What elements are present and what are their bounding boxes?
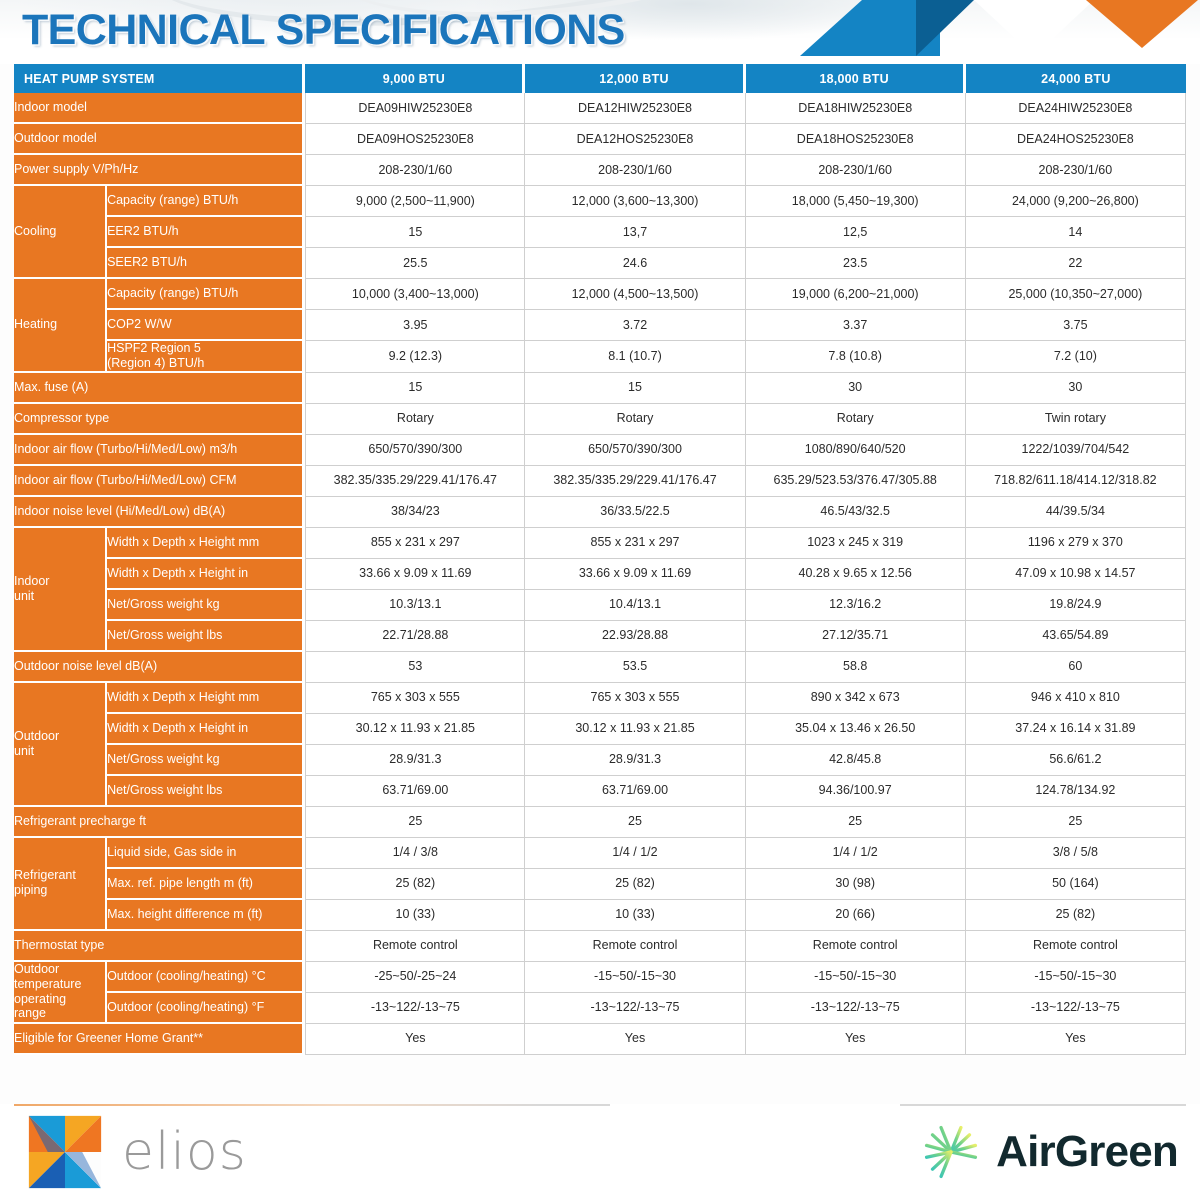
table-cell: 1/4 / 3/8	[305, 838, 525, 869]
row-label: Outdoor noise level dB(A)	[14, 652, 305, 683]
table-cell: 765 x 303 x 555	[525, 683, 745, 714]
table-cell: 855 x 231 x 297	[525, 528, 745, 559]
row-label: Width x Depth x Height in	[107, 559, 305, 590]
table-cell: DEA12HOS25230E8	[525, 124, 745, 155]
table-row: Width x Depth x Height in33.66 x 9.09 x …	[14, 559, 1186, 590]
white-wedge-icon	[974, 0, 1094, 56]
row-label: SEER2 BTU/h	[107, 248, 305, 279]
table-cell: 63.71/69.00	[525, 776, 745, 807]
table-cell: 19,000 (6,200~21,000)	[746, 279, 966, 310]
table-row: Refrigerant precharge ft25252525	[14, 807, 1186, 838]
table-cell: 25	[525, 807, 745, 838]
airgreen-sunburst-icon	[918, 1119, 984, 1185]
table-cell: Remote control	[746, 931, 966, 962]
table-cell: 30	[966, 373, 1186, 404]
header-cell-24000: 24,000 BTU	[966, 64, 1186, 93]
row-label: Net/Gross weight kg	[107, 745, 305, 776]
table-cell: 22	[966, 248, 1186, 279]
table-cell: 15	[525, 373, 745, 404]
table-cell: 25.5	[305, 248, 525, 279]
table-row: HSPF2 Region 5(Region 4) BTU/h9.2 (12.3)…	[14, 341, 1186, 373]
table-cell: 30	[746, 373, 966, 404]
table-cell: 9.2 (12.3)	[305, 341, 525, 373]
row-label: Refrigerant precharge ft	[14, 807, 305, 838]
table-cell: 36/33.5/22.5	[525, 497, 745, 528]
table-cell: 208-230/1/60	[746, 155, 966, 186]
table-cell: 635.29/523.53/376.47/305.88	[746, 466, 966, 497]
row-group-label: Heating	[14, 279, 107, 373]
table-cell: 19.8/24.9	[966, 590, 1186, 621]
table-cell: 25,000 (10,350~27,000)	[966, 279, 1186, 310]
table-cell: 3.75	[966, 310, 1186, 341]
table-cell: 1/4 / 1/2	[525, 838, 745, 869]
table-cell: 10.4/13.1	[525, 590, 745, 621]
table-cell: 42.8/45.8	[746, 745, 966, 776]
table-cell: 30.12 x 11.93 x 21.85	[525, 714, 745, 745]
row-label: Max. height difference m (ft)	[107, 900, 305, 931]
table-row: Thermostat typeRemote controlRemote cont…	[14, 931, 1186, 962]
table-cell: 27.12/35.71	[746, 621, 966, 652]
table-row: OutdoortemperatureoperatingrangeOutdoor …	[14, 962, 1186, 993]
table-cell: 1/4 / 1/2	[746, 838, 966, 869]
table-cell: 14	[966, 217, 1186, 248]
table-row: CoolingCapacity (range) BTU/h9,000 (2,50…	[14, 186, 1186, 217]
table-cell: Yes	[966, 1024, 1186, 1055]
row-label: Indoor air flow (Turbo/Hi/Med/Low) m3/h	[14, 435, 305, 466]
table-row: Net/Gross weight kg10.3/13.110.4/13.112.…	[14, 590, 1186, 621]
table-cell: 53.5	[525, 652, 745, 683]
table-row: Indoor air flow (Turbo/Hi/Med/Low) m3/h6…	[14, 435, 1186, 466]
table-cell: 22.93/28.88	[525, 621, 745, 652]
table-cell: 25 (82)	[966, 900, 1186, 931]
row-label: COP2 W/W	[107, 310, 305, 341]
row-label: Max. ref. pipe length m (ft)	[107, 869, 305, 900]
table-cell: 12,5	[746, 217, 966, 248]
row-label: Liquid side, Gas side in	[107, 838, 305, 869]
table-cell: Twin rotary	[966, 404, 1186, 435]
table-cell: -13~122/-13~75	[525, 993, 745, 1024]
table-header-row: HEAT PUMP SYSTEM 9,000 BTU 12,000 BTU 18…	[14, 64, 1186, 93]
table-cell: 3.37	[746, 310, 966, 341]
header-cell-9000: 9,000 BTU	[305, 64, 525, 93]
header-cell-18000: 18,000 BTU	[746, 64, 966, 93]
table-cell: 10 (33)	[525, 900, 745, 931]
table-cell: -15~50/-15~30	[525, 962, 745, 993]
table-cell: 855 x 231 x 297	[305, 528, 525, 559]
table-cell: 33.66 x 9.09 x 11.69	[525, 559, 745, 590]
table-cell: Yes	[305, 1024, 525, 1055]
page-header: TECHNICAL SPECIFICATIONS	[0, 0, 1200, 64]
table-row: Width x Depth x Height in30.12 x 11.93 x…	[14, 714, 1186, 745]
table-row: Compressor typeRotaryRotaryRotaryTwin ro…	[14, 404, 1186, 435]
table-cell: -15~50/-15~30	[746, 962, 966, 993]
table-cell: 60	[966, 652, 1186, 683]
row-label: Net/Gross weight lbs	[107, 776, 305, 807]
table-row: Indoor modelDEA09HIW25230E8DEA12HIW25230…	[14, 93, 1186, 124]
table-cell: Rotary	[305, 404, 525, 435]
table-cell: 9,000 (2,500~11,900)	[305, 186, 525, 217]
table-row: Indoor air flow (Turbo/Hi/Med/Low) CFM38…	[14, 466, 1186, 497]
elios-logo: elios	[22, 1109, 247, 1195]
elios-pinwheel-icon	[22, 1109, 108, 1195]
footer-divider	[14, 1104, 1186, 1106]
row-label: Thermostat type	[14, 931, 305, 962]
row-label: Width x Depth x Height in	[107, 714, 305, 745]
table-row: Net/Gross weight kg28.9/31.328.9/31.342.…	[14, 745, 1186, 776]
row-label: Capacity (range) BTU/h	[107, 279, 305, 310]
table-row: Net/Gross weight lbs63.71/69.0063.71/69.…	[14, 776, 1186, 807]
table-cell: 650/570/390/300	[305, 435, 525, 466]
row-group-label: Refrigerantpiping	[14, 838, 107, 931]
table-row: RefrigerantpipingLiquid side, Gas side i…	[14, 838, 1186, 869]
table-cell: 12,000 (3,600~13,300)	[525, 186, 745, 217]
header-cell-12000: 12,000 BTU	[525, 64, 745, 93]
table-cell: 23.5	[746, 248, 966, 279]
header-cell-system: HEAT PUMP SYSTEM	[14, 64, 305, 93]
table-cell: 94.36/100.97	[746, 776, 966, 807]
table-cell: 56.6/61.2	[966, 745, 1186, 776]
table-cell: DEA18HIW25230E8	[746, 93, 966, 124]
table-row: Outdoor modelDEA09HOS25230E8DEA12HOS2523…	[14, 124, 1186, 155]
table-cell: 24.6	[525, 248, 745, 279]
table-cell: 38/34/23	[305, 497, 525, 528]
table-cell: -13~122/-13~75	[305, 993, 525, 1024]
page-title: TECHNICAL SPECIFICATIONS	[22, 6, 625, 55]
table-cell: 37.24 x 16.14 x 31.89	[966, 714, 1186, 745]
table-cell: 1080/890/640/520	[746, 435, 966, 466]
spec-table-container: HEAT PUMP SYSTEM 9,000 BTU 12,000 BTU 18…	[0, 64, 1200, 1055]
table-cell: 12,000 (4,500~13,500)	[525, 279, 745, 310]
table-cell: 24,000 (9,200~26,800)	[966, 186, 1186, 217]
row-label: Net/Gross weight lbs	[107, 621, 305, 652]
table-cell: 15	[305, 217, 525, 248]
table-cell: 53	[305, 652, 525, 683]
row-label: Net/Gross weight kg	[107, 590, 305, 621]
table-cell: Yes	[525, 1024, 745, 1055]
table-cell: 30.12 x 11.93 x 21.85	[305, 714, 525, 745]
dark-blue-triangle-icon	[916, 0, 974, 56]
table-cell: -13~122/-13~75	[746, 993, 966, 1024]
orange-triangle-icon	[1086, 0, 1198, 48]
table-cell: 35.04 x 13.46 x 26.50	[746, 714, 966, 745]
table-cell: DEA09HOS25230E8	[305, 124, 525, 155]
table-cell: DEA24HOS25230E8	[966, 124, 1186, 155]
table-row: SEER2 BTU/h25.524.623.522	[14, 248, 1186, 279]
table-cell: 13,7	[525, 217, 745, 248]
table-cell: -13~122/-13~75	[966, 993, 1186, 1024]
table-cell: 18,000 (5,450~19,300)	[746, 186, 966, 217]
table-cell: 7.8 (10.8)	[746, 341, 966, 373]
row-label: Outdoor (cooling/heating) °F	[107, 993, 305, 1024]
table-cell: 44/39.5/34	[966, 497, 1186, 528]
table-cell: 1222/1039/704/542	[966, 435, 1186, 466]
row-label: Outdoor model	[14, 124, 305, 155]
row-group-label: Indoorunit	[14, 528, 107, 652]
elios-wordmark: elios	[122, 1122, 247, 1182]
table-cell: 25	[305, 807, 525, 838]
table-cell: 22.71/28.88	[305, 621, 525, 652]
table-row: EER2 BTU/h1513,712,514	[14, 217, 1186, 248]
table-cell: -15~50/-15~30	[966, 962, 1186, 993]
table-row: Net/Gross weight lbs22.71/28.8822.93/28.…	[14, 621, 1186, 652]
row-label: Width x Depth x Height mm	[107, 528, 305, 559]
spec-sheet-page: TECHNICAL SPECIFICATIONS HEAT PUMP SYSTE…	[0, 0, 1200, 1200]
table-cell: 12.3/16.2	[746, 590, 966, 621]
table-cell: 765 x 303 x 555	[305, 683, 525, 714]
row-label: Power supply V/Ph/Hz	[14, 155, 305, 186]
row-group-label: Outdoorunit	[14, 683, 107, 807]
table-cell: 50 (164)	[966, 869, 1186, 900]
table-row: Power supply V/Ph/Hz208-230/1/60208-230/…	[14, 155, 1186, 186]
table-cell: 382.35/335.29/229.41/176.47	[305, 466, 525, 497]
table-cell: Remote control	[966, 931, 1186, 962]
row-label: Outdoor (cooling/heating) °C	[107, 962, 305, 993]
table-cell: 382.35/335.29/229.41/176.47	[525, 466, 745, 497]
footer-spacer	[610, 1104, 900, 1200]
page-footer: elios	[0, 1104, 1200, 1200]
table-cell: -25~50/-25~24	[305, 962, 525, 993]
table-cell: 30 (98)	[746, 869, 966, 900]
table-cell: 8.1 (10.7)	[525, 341, 745, 373]
table-cell: 7.2 (10)	[966, 341, 1186, 373]
row-label: Indoor model	[14, 93, 305, 124]
table-cell: 208-230/1/60	[966, 155, 1186, 186]
table-row: Indoor noise level (Hi/Med/Low) dB(A)38/…	[14, 497, 1186, 528]
row-group-label: Outdoortemperatureoperatingrange	[14, 962, 107, 1024]
table-row: Outdoor (cooling/heating) °F-13~122/-13~…	[14, 993, 1186, 1024]
table-cell: Rotary	[525, 404, 745, 435]
table-cell: 10,000 (3,400~13,000)	[305, 279, 525, 310]
table-cell: 946 x 410 x 810	[966, 683, 1186, 714]
table-cell: 28.9/31.3	[525, 745, 745, 776]
table-cell: DEA12HIW25230E8	[525, 93, 745, 124]
table-cell: 3.72	[525, 310, 745, 341]
table-cell: 3.95	[305, 310, 525, 341]
table-cell: 1196 x 279 x 370	[966, 528, 1186, 559]
table-cell: Yes	[746, 1024, 966, 1055]
table-cell: 25 (82)	[525, 869, 745, 900]
table-cell: 890 x 342 x 673	[746, 683, 966, 714]
table-cell: 650/570/390/300	[525, 435, 745, 466]
table-cell: 63.71/69.00	[305, 776, 525, 807]
table-cell: 43.65/54.89	[966, 621, 1186, 652]
airgreen-logo: AirGreen	[918, 1119, 1178, 1185]
airgreen-wordmark: AirGreen	[996, 1127, 1178, 1177]
table-cell: DEA18HOS25230E8	[746, 124, 966, 155]
table-cell: Remote control	[525, 931, 745, 962]
table-cell: 3/8 / 5/8	[966, 838, 1186, 869]
table-cell: 10.3/13.1	[305, 590, 525, 621]
table-cell: Remote control	[305, 931, 525, 962]
table-cell: 10 (33)	[305, 900, 525, 931]
table-cell: 15	[305, 373, 525, 404]
table-cell: 718.82/611.18/414.12/318.82	[966, 466, 1186, 497]
row-label: Max. fuse (A)	[14, 373, 305, 404]
specifications-table: HEAT PUMP SYSTEM 9,000 BTU 12,000 BTU 18…	[14, 64, 1186, 1055]
row-label: Indoor air flow (Turbo/Hi/Med/Low) CFM	[14, 466, 305, 497]
table-row: IndoorunitWidth x Depth x Height mm855 x…	[14, 528, 1186, 559]
table-cell: 124.78/134.92	[966, 776, 1186, 807]
row-label: Eligible for Greener Home Grant**	[14, 1024, 305, 1055]
table-row: Max. fuse (A)15153030	[14, 373, 1186, 404]
table-cell: DEA24HIW25230E8	[966, 93, 1186, 124]
row-label: Capacity (range) BTU/h	[107, 186, 305, 217]
table-cell: 25	[746, 807, 966, 838]
table-cell: 208-230/1/60	[305, 155, 525, 186]
table-cell: 28.9/31.3	[305, 745, 525, 776]
table-row: COP2 W/W3.953.723.373.75	[14, 310, 1186, 341]
table-cell: 25	[966, 807, 1186, 838]
table-cell: 25 (82)	[305, 869, 525, 900]
table-cell: 1023 x 245 x 319	[746, 528, 966, 559]
table-row: OutdoorunitWidth x Depth x Height mm765 …	[14, 683, 1186, 714]
row-label: Compressor type	[14, 404, 305, 435]
table-cell: 208-230/1/60	[525, 155, 745, 186]
table-body: Indoor modelDEA09HIW25230E8DEA12HIW25230…	[14, 93, 1186, 1055]
table-cell: DEA09HIW25230E8	[305, 93, 525, 124]
table-cell: 20 (66)	[746, 900, 966, 931]
row-label: EER2 BTU/h	[107, 217, 305, 248]
row-label: Indoor noise level (Hi/Med/Low) dB(A)	[14, 497, 305, 528]
table-row: HeatingCapacity (range) BTU/h10,000 (3,4…	[14, 279, 1186, 310]
table-row: Outdoor noise level dB(A)5353.558.860	[14, 652, 1186, 683]
table-row: Eligible for Greener Home Grant**YesYesY…	[14, 1024, 1186, 1055]
table-cell: 58.8	[746, 652, 966, 683]
table-cell: 46.5/43/32.5	[746, 497, 966, 528]
row-label: Width x Depth x Height mm	[107, 683, 305, 714]
table-cell: 33.66 x 9.09 x 11.69	[305, 559, 525, 590]
table-cell: Rotary	[746, 404, 966, 435]
table-cell: 47.09 x 10.98 x 14.57	[966, 559, 1186, 590]
row-label: HSPF2 Region 5(Region 4) BTU/h	[107, 341, 305, 373]
table-cell: 40.28 x 9.65 x 12.56	[746, 559, 966, 590]
table-row: Max. height difference m (ft)10 (33)10 (…	[14, 900, 1186, 931]
table-row: Max. ref. pipe length m (ft)25 (82)25 (8…	[14, 869, 1186, 900]
row-group-label: Cooling	[14, 186, 107, 279]
